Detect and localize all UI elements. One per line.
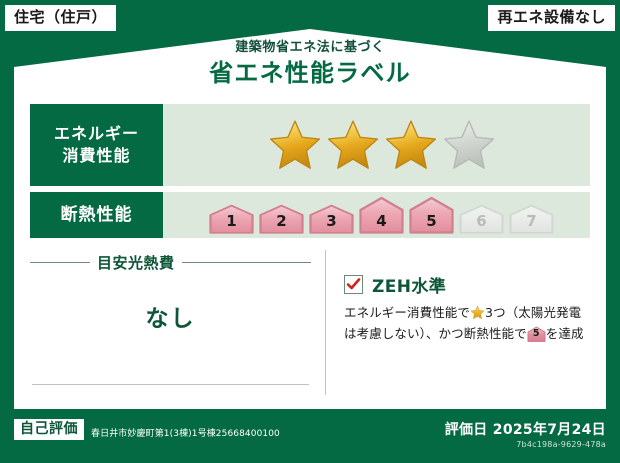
row-insulation-label-text: 断熱性能 bbox=[61, 204, 133, 227]
row-energy-consumption: エネルギー 消費性能 bbox=[30, 104, 590, 186]
zeh-desc-part3: は考慮しない）、かつ断熱性能で bbox=[344, 326, 527, 341]
title-main: 省エネ性能ラベル bbox=[0, 58, 620, 89]
house-badge-icon bbox=[458, 204, 505, 234]
star-filled-icon bbox=[267, 118, 323, 172]
title-subtitle: 建築物省エネ法に基づく bbox=[0, 40, 620, 56]
insulation-grade-2: 2 bbox=[258, 204, 305, 234]
insulation-grade-4: 4 bbox=[358, 196, 405, 234]
star-filled bbox=[325, 118, 381, 172]
insulation-grade-5: 5 bbox=[408, 196, 455, 234]
house-badge-icon bbox=[208, 204, 255, 234]
cost-rule-left bbox=[30, 262, 90, 263]
zeh-desc-part1: エネルギー消費性能で bbox=[344, 305, 470, 320]
star-empty bbox=[441, 118, 497, 172]
row-insulation-label: 断熱性能 bbox=[30, 192, 163, 238]
house-badge-icon bbox=[508, 204, 555, 234]
evaluation-date-value: 2025年7月24日 bbox=[493, 422, 606, 438]
zeh-header: ZEH水準 bbox=[344, 272, 590, 297]
label-title-block: 建築物省エネ法に基づく 省エネ性能ラベル bbox=[0, 40, 620, 89]
zeh-desc-part2: 3つ（太陽光発電 bbox=[485, 305, 581, 320]
row-energy-label-line2: 消費性能 bbox=[62, 145, 130, 167]
star-filled bbox=[383, 118, 439, 172]
inline-grade-number: 5 bbox=[527, 326, 546, 342]
star-filled-icon bbox=[325, 118, 381, 172]
utility-cost-title: 目安光熱費 bbox=[97, 252, 175, 273]
insulation-grade-scale: 1234567 bbox=[208, 196, 555, 234]
utility-cost-panel: 目安光熱費 なし bbox=[30, 250, 326, 395]
house-badge-icon bbox=[408, 196, 455, 234]
insulation-grade-7: 7 bbox=[508, 204, 555, 234]
lower-section: 目安光熱費 なし ZEH水準 エネルギー消費性能で bbox=[30, 250, 590, 395]
badge-building-type: 住宅（住戸） bbox=[5, 5, 116, 31]
label-uuid: 7b4c198a-9629-478a bbox=[445, 440, 606, 449]
row-insulation: 断熱性能 1234567 bbox=[30, 192, 590, 238]
row-energy-value bbox=[163, 104, 590, 186]
cost-rule-right bbox=[182, 262, 311, 263]
zeh-description: エネルギー消費性能で 3つ（太陽光発電 は考慮しない）、かつ断熱性能で bbox=[344, 303, 590, 344]
self-evaluation-badge: 自己評価 bbox=[14, 419, 84, 440]
house-badge-icon bbox=[308, 204, 355, 234]
house-badge-icon bbox=[258, 204, 305, 234]
zeh-desc-part4: を達成 bbox=[546, 326, 584, 341]
house-badge-icon bbox=[358, 196, 405, 234]
self-evaluation-group: 自己評価 春日井市妙慶町第1(3棟)1号棟25668400100 bbox=[14, 419, 280, 440]
insulation-grade-3: 3 bbox=[308, 204, 355, 234]
insulation-grade-1: 1 bbox=[208, 204, 255, 234]
utility-cost-header: 目安光熱費 bbox=[30, 252, 325, 273]
evaluation-date-label: 評価日 bbox=[445, 422, 488, 438]
property-address: 春日井市妙慶町第1(3棟)1号棟25668400100 bbox=[91, 421, 280, 439]
check-icon bbox=[346, 277, 361, 292]
insulation-grade-6: 6 bbox=[458, 204, 505, 234]
zeh-checkbox[interactable] bbox=[344, 275, 363, 294]
evaluation-date-group: 評価日 2025年7月24日 7b4c198a-9629-478a bbox=[445, 419, 606, 449]
star-filled bbox=[267, 118, 323, 172]
evaluation-date: 評価日 2025年7月24日 bbox=[445, 419, 606, 439]
row-energy-label-line1: エネルギー bbox=[54, 123, 139, 145]
star-empty-icon bbox=[441, 118, 497, 172]
inline-grade-badge: 5 bbox=[527, 326, 546, 342]
row-insulation-value: 1234567 bbox=[163, 192, 590, 238]
row-energy-label: エネルギー 消費性能 bbox=[30, 104, 163, 186]
star-rating bbox=[267, 118, 497, 172]
energy-performance-label: 住宅（住戸） 再エネ設備なし 建築物省エネ法に基づく 省エネ性能ラベル エネルギ… bbox=[0, 0, 620, 463]
inline-star-icon bbox=[470, 305, 485, 320]
badge-renewable-energy: 再エネ設備なし bbox=[488, 5, 615, 31]
zeh-title: ZEH水準 bbox=[372, 272, 446, 297]
star-filled-icon bbox=[383, 118, 439, 172]
label-footer: 自己評価 春日井市妙慶町第1(3棟)1号棟25668400100 評価日 202… bbox=[0, 409, 620, 463]
performance-rows: エネルギー 消費性能 断熱性能 1234567 bbox=[30, 104, 590, 244]
zeh-panel: ZEH水準 エネルギー消費性能で 3つ（太陽光発電 bbox=[326, 250, 590, 395]
utility-cost-value: なし bbox=[30, 299, 325, 333]
cost-bottom-rule bbox=[32, 384, 309, 385]
